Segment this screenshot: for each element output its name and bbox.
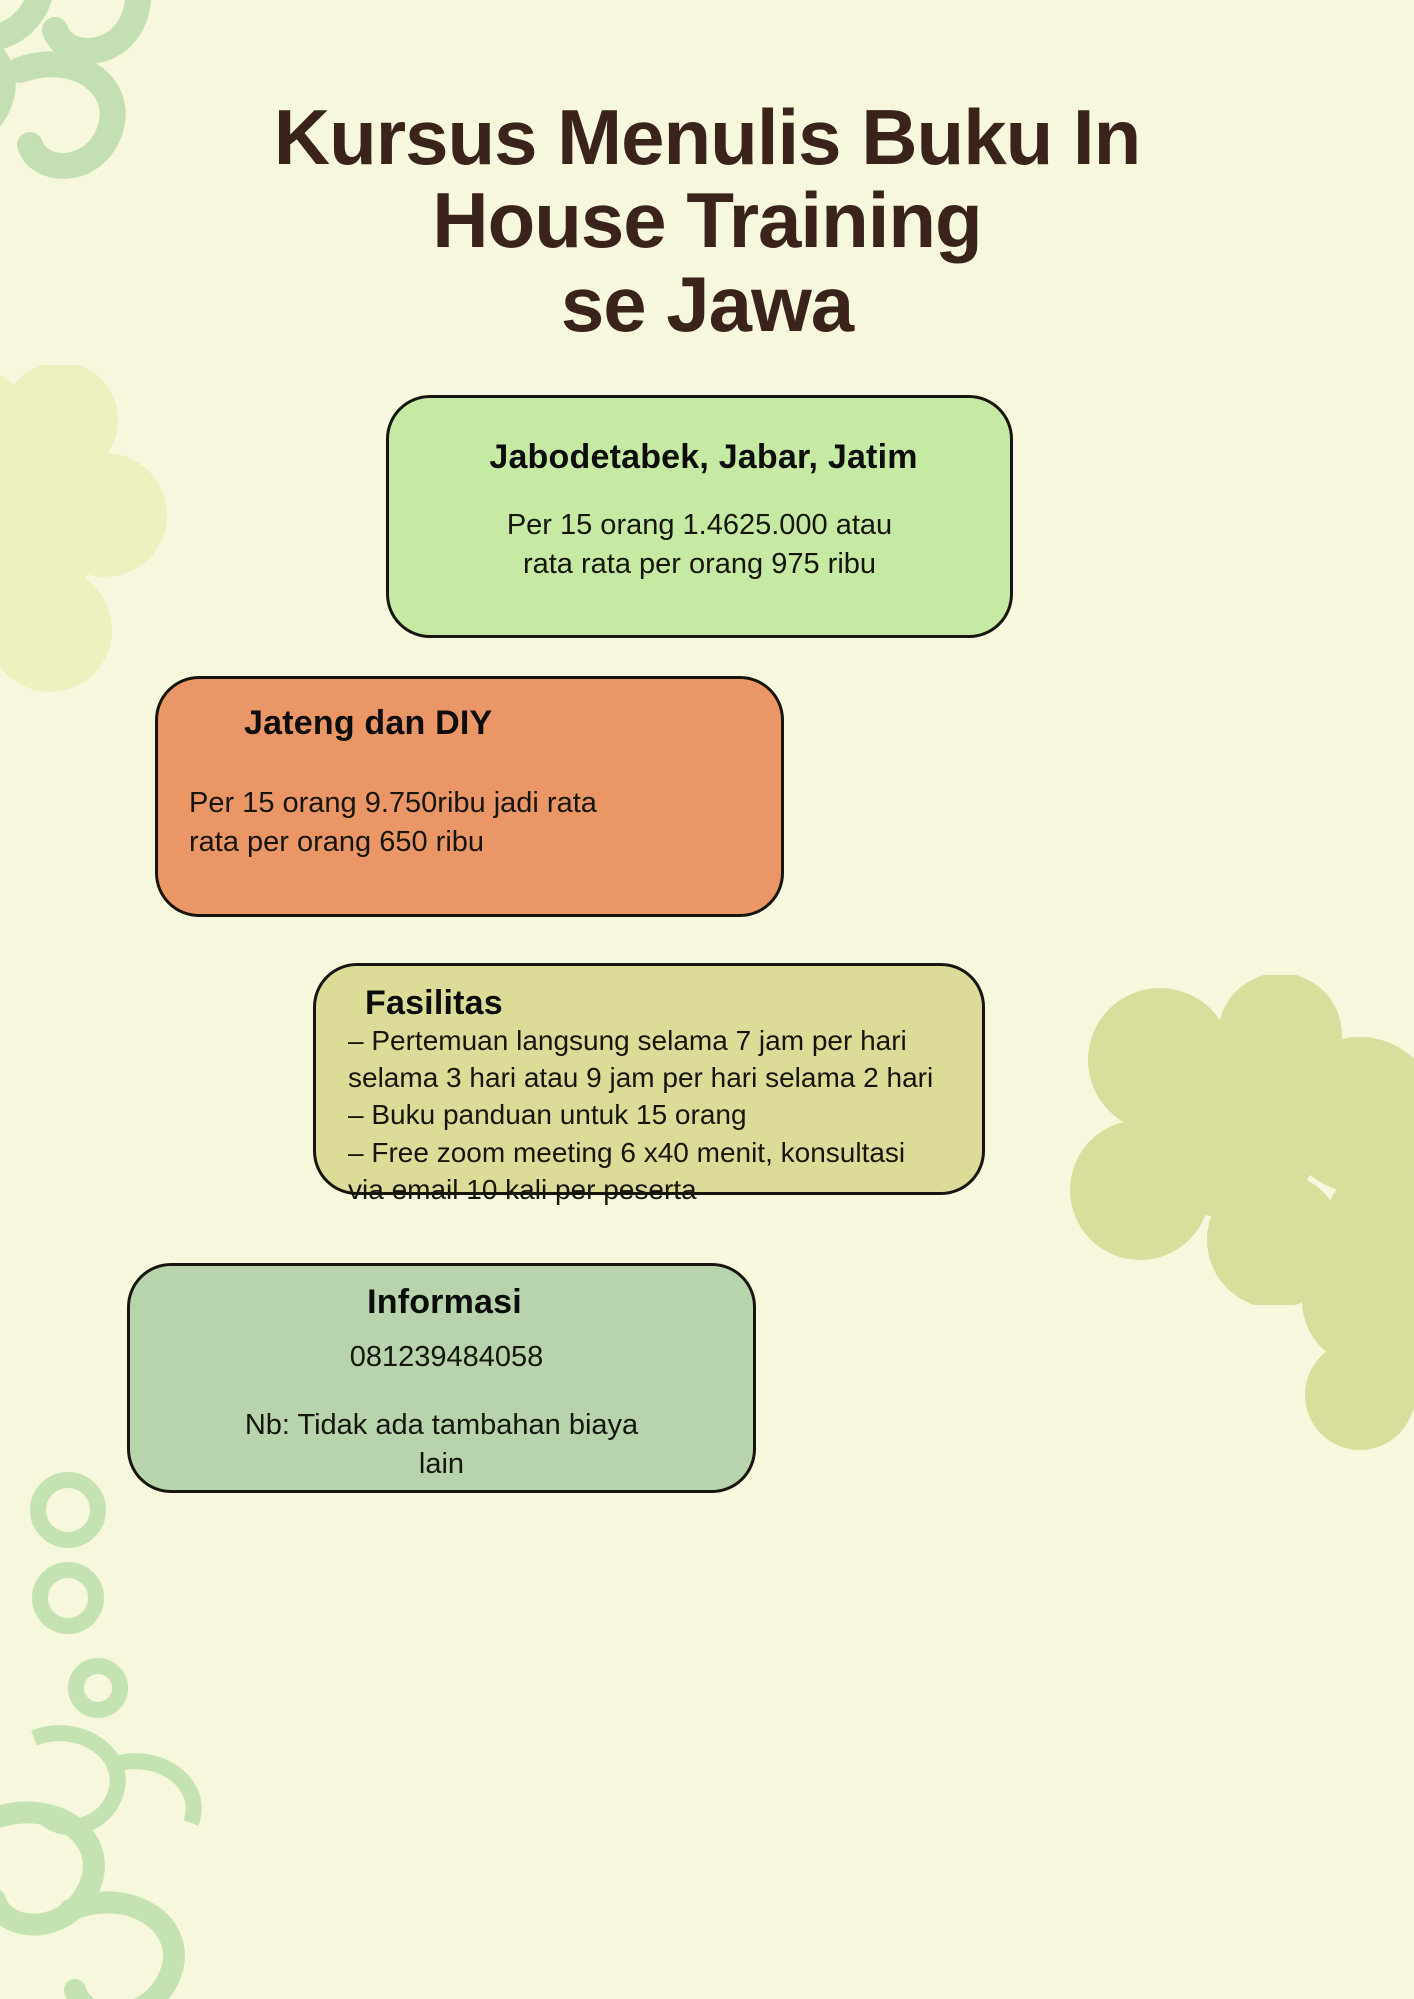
card-jateng-body: Per 15 orang 9.750ribu jadi rata rata pe…	[189, 784, 749, 863]
card-informasi-title: Informasi	[130, 1283, 753, 1322]
card-jateng-title: Jateng dan DIY	[244, 704, 492, 743]
title-line-3: se Jawa	[0, 263, 1414, 346]
contact-phone-number[interactable]: 081239484058	[130, 1341, 753, 1374]
card-fasilitas-title: Fasilitas	[365, 984, 503, 1023]
title-line-2: House Training	[0, 179, 1414, 262]
card-fasilitas: Fasilitas – Pertemuan langsung selama 7 …	[313, 963, 985, 1195]
page-title: Kursus Menulis Buku In House Training se…	[0, 96, 1414, 346]
card-jateng: Jateng dan DIY Per 15 orang 9.750ribu ja…	[155, 676, 784, 917]
card-jabodetabek: Jabodetabek, Jabar, Jatim Per 15 orang 1…	[386, 395, 1013, 638]
card-informasi: Informasi 081239484058 Nb: Tidak ada tam…	[127, 1263, 756, 1493]
card-jabodetabek-title: Jabodetabek, Jabar, Jatim	[389, 438, 1010, 477]
card-informasi-note: Nb: Tidak ada tambahan biaya lain	[130, 1406, 753, 1484]
card-fasilitas-body: – Pertemuan langsung selama 7 jam per ha…	[348, 1022, 960, 1208]
card-jabodetabek-body: Per 15 orang 1.4625.000 atau rata rata p…	[389, 506, 1010, 585]
poster-root: Kursus Menulis Buku In House Training se…	[0, 0, 1414, 1999]
title-line-1: Kursus Menulis Buku In	[0, 96, 1414, 179]
